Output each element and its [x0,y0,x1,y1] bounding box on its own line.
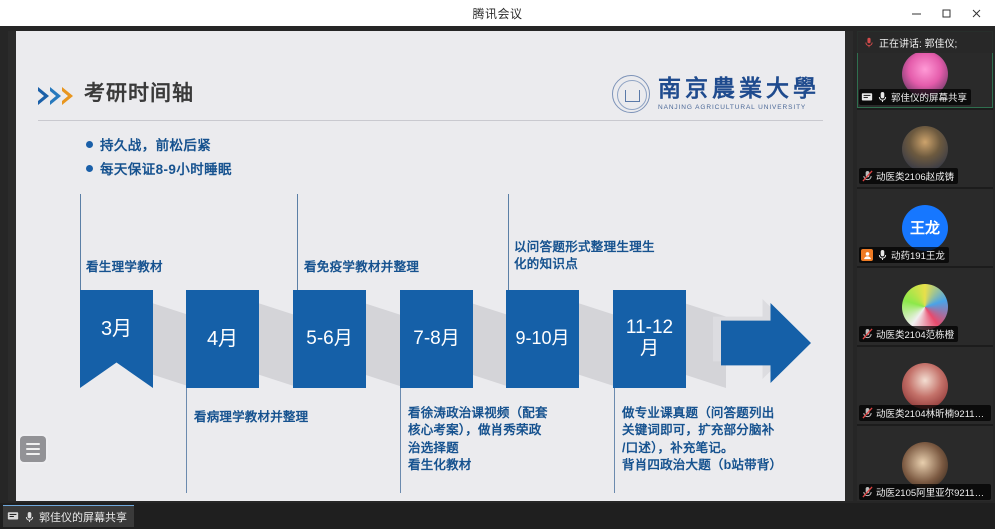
window-controls [901,0,991,26]
window-titlebar: 腾讯会议 [0,0,995,26]
caption-line: 关键词即可，扩充部分脑补 [622,422,782,439]
avatar-initials: 王龙 [902,205,948,251]
participant-name: 动医类2106赵成铸 [876,169,954,183]
presentation-slide: 考研时间轴 南京農業大學 NANJING AGRICULTURAL UNIVER… [16,31,845,501]
screen-share-area: 考研时间轴 南京農業大學 NANJING AGRICULTURAL UNIVER… [8,31,853,501]
speaking-icon [864,37,874,48]
close-icon [971,8,982,19]
timeline-caption-top: 以问答题形式整理生理生 化的知识点 [514,239,655,273]
participant-name-chip: 动医类2106赵成铸 [859,168,958,184]
screen-share-icon [861,91,873,103]
minimize-button[interactable] [901,0,931,26]
timeline-caption-bottom: 做专业课真题（问答题列出 关键词即可，扩充部分脑补 /口述），补充笔记。 背肖四… [622,405,782,474]
close-button[interactable] [961,0,991,26]
participant-tile[interactable]: 正在讲话: 郭佳仪; 郭佳仪的屏幕共享 [857,31,993,108]
caption-line: 治选择题 [408,440,548,457]
caption-line: 背肖四政治大题（b站带背） [622,457,782,474]
microphone-icon [876,91,888,103]
microphone-muted-icon [861,170,873,182]
avatar [902,442,948,488]
participant-tile[interactable]: 王龙 动药191王龙 [857,189,993,266]
timeline-milestone-3: 3月 [80,290,153,388]
avatar: 王龙 [902,205,948,251]
timeline-milestone-7-8: 7-8月 [400,290,473,388]
window-title: 腾讯会议 [472,5,522,22]
avatar [902,363,948,409]
participant-name: 动医类2104范栋橙 [876,327,954,341]
taskbar: 郭佳仪的屏幕共享 [0,503,995,529]
participant-name: 动医类2104林昕楠921171... [876,406,987,420]
meeting-window: 腾讯会议 考研时间轴 [0,0,995,529]
caption-line: 核心考案），做肖秀荣政 [408,422,548,439]
maximize-icon [941,8,952,19]
caption-line: 看徐涛政治课视频（配套 [408,405,548,422]
timeline-milestone-11-12: 11-12月 [613,290,686,388]
caption-line: 看生化教材 [408,457,548,474]
microphone-muted-icon [861,486,873,498]
timeline-caption-bottom: 看病理学教材并整理 [194,409,308,426]
timeline-connector-line [297,194,298,297]
microphone-muted-icon [861,407,873,419]
caption-line: /口述），补充笔记。 [622,440,782,457]
timeline-caption-top: 看生理学教材 [86,259,163,276]
participant-tile[interactable]: 动医2105阿里亚尔921171... [857,426,993,501]
participant-name: 郭佳仪的屏幕共享 [891,90,967,104]
participant-tile[interactable]: 动医类2104林昕楠921171... [857,347,993,424]
timeline-milestone-9-10: 9-10月 [506,290,579,388]
menu-line-icon [26,443,40,445]
participant-name-chip: 动医2105阿里亚尔921171... [859,484,991,500]
timeline-milestone-4: 4月 [186,290,259,388]
timeline-connector-line [400,388,401,493]
participant-name: 动药191王龙 [891,248,945,262]
microphone-icon [876,249,888,261]
participant-tile[interactable]: 动医类2104范栋橙 [857,268,993,345]
share-toolbar-toggle-button[interactable] [20,436,46,462]
participant-name-chip: 郭佳仪的屏幕共享 [859,89,971,105]
screen-share-icon [7,511,19,523]
maximize-button[interactable] [931,0,961,26]
caption-line: 化的知识点 [514,256,655,273]
participant-name: 动医2105阿里亚尔921171... [876,485,987,499]
participant-tile[interactable]: 动医类2106赵成铸 [857,110,993,187]
timeline-caption-bottom: 看徐涛政治课视频（配套 核心考案），做肖秀荣政 治选择题 看生化教材 [408,405,548,474]
timeline-connector-line [508,194,509,297]
participant-name-chip: 动医类2104范栋橙 [859,326,958,342]
participant-name-chip: 动药191王龙 [859,247,949,263]
caption-line: 以问答题形式整理生理生 [514,239,655,256]
microphone-icon [23,511,35,523]
taskbar-item-label: 郭佳仪的屏幕共享 [39,509,127,525]
timeline-caption-top: 看免疫学教材并整理 [304,259,419,276]
timeline-graphic: 看生理学教材 看免疫学教材并整理 以问答题形式整理生理生 化的知识点 3月 4月… [16,31,845,501]
timeline-connector-line [186,388,187,493]
timeline-connector-line [614,388,615,493]
timeline-milestone-5-6: 5-6月 [293,290,366,388]
active-speaker-text: 正在讲话: 郭佳仪; [879,35,957,50]
microphone-muted-icon [861,328,873,340]
participant-rail[interactable]: 正在讲话: 郭佳仪; 郭佳仪的屏幕共享 动医类2106赵成铸 [857,31,993,501]
menu-line-icon [26,453,40,455]
participant-name-chip: 动医类2104林昕楠921171... [859,405,991,421]
avatar [902,126,948,172]
caption-line: 做专业课真题（问答题列出 [622,405,782,422]
menu-line-icon [26,448,40,450]
minimize-icon [911,8,922,19]
taskbar-item-screen-share[interactable]: 郭佳仪的屏幕共享 [3,505,134,527]
avatar [902,284,948,330]
active-speaker-banner: 正在讲话: 郭佳仪; [857,31,993,53]
timeline-connector-line [80,194,81,297]
host-badge-icon [861,249,873,261]
